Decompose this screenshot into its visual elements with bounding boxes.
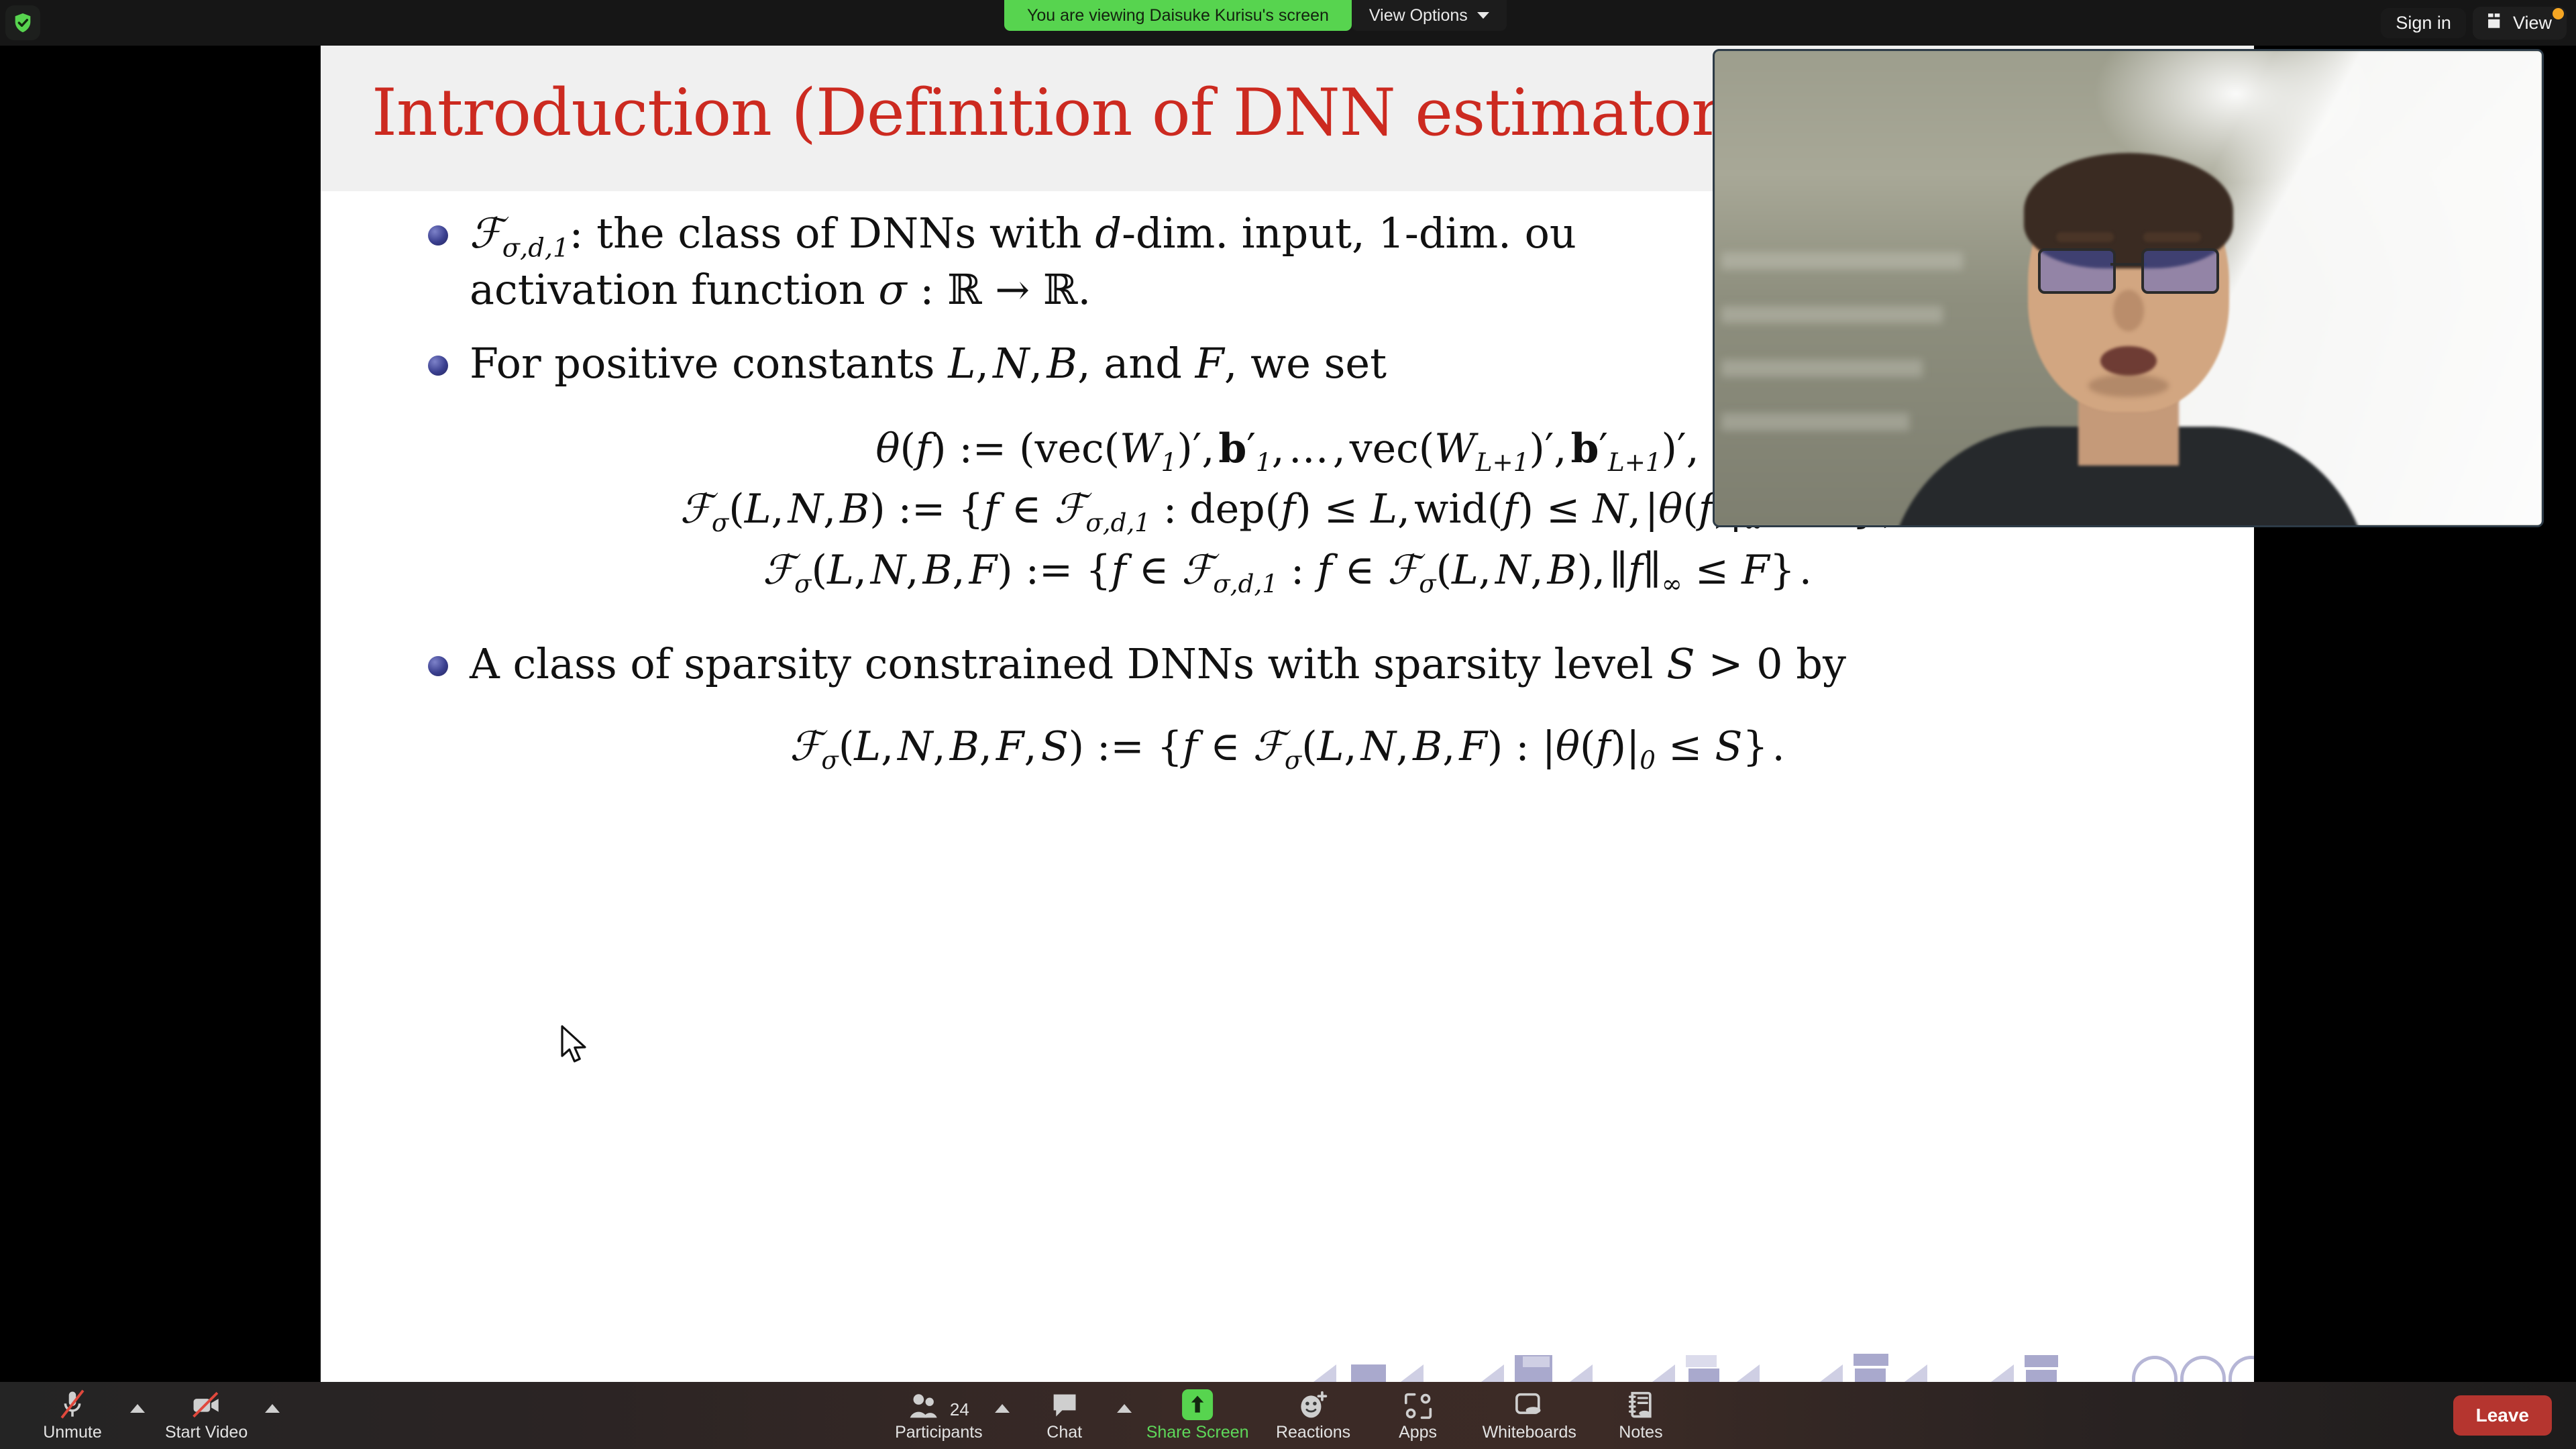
- presenter-eyebrow-right: [2143, 232, 2201, 242]
- bullet-sparsity-class: A class of sparsity constrained DNNs wit…: [428, 639, 2173, 690]
- notes-icon: [1627, 1389, 1655, 1420]
- bullet-sparsity-class-text: A class of sparsity constrained DNNs wit…: [470, 639, 1846, 690]
- apps-bracket-icon: [1403, 1389, 1433, 1420]
- reactions-button[interactable]: Reactions: [1261, 1385, 1366, 1446]
- share-screen-label: Share Screen: [1146, 1423, 1249, 1442]
- view-button[interactable]: View: [2473, 7, 2567, 40]
- chevron-down-icon: [1477, 12, 1489, 19]
- start-video-label: Start Video: [165, 1423, 248, 1442]
- window-top-right-controls: Sign in View: [2381, 4, 2567, 42]
- microphone-muted-icon: [58, 1389, 87, 1420]
- zoom-meeting-window: Sign in View You are viewing Daisuke Kur…: [0, 0, 2576, 1449]
- view-options-label: View Options: [1369, 6, 1468, 25]
- share-screen-button[interactable]: Share Screen: [1134, 1385, 1261, 1446]
- chevron-up-icon: [265, 1404, 280, 1413]
- participants-button[interactable]: 24 Participants: [883, 1385, 995, 1446]
- whiteboards-label: Whiteboards: [1483, 1423, 1576, 1442]
- participants-label: Participants: [895, 1423, 983, 1442]
- meeting-toolbar: Unmute Start Video: [0, 1382, 2576, 1449]
- sign-in-label: Sign in: [2396, 14, 2451, 32]
- presenter-glasses: [2038, 248, 2219, 291]
- video-options-caret[interactable]: [265, 1375, 282, 1449]
- smiley-plus-icon: [1297, 1389, 1330, 1420]
- start-video-button[interactable]: Start Video: [153, 1385, 260, 1446]
- mouse-cursor: [561, 1025, 590, 1067]
- shared-screen-stage: Introduction (Definition of DNN estimato…: [0, 0, 2576, 1382]
- chat-button[interactable]: Chat: [1012, 1385, 1117, 1446]
- notes-label: Notes: [1619, 1423, 1662, 1442]
- bullet-dot-icon: [428, 356, 448, 376]
- sign-in-button[interactable]: Sign in: [2381, 8, 2466, 38]
- presenter-chin: [2088, 374, 2169, 397]
- presenter-video-tile[interactable]: [1713, 49, 2544, 527]
- toolbar-center-group: 24 Participants Chat: [883, 1382, 1693, 1449]
- bullet-dot-icon: [428, 656, 448, 676]
- eq-F-LNBFS: ℱσ(L, N, B, F, S) := {f ∈ ℱσ(L, N, B, F)…: [321, 718, 2254, 779]
- presenter-eyebrow-left: [2056, 232, 2114, 242]
- screen-share-banner: You are viewing Daisuke Kurisu's screen …: [1004, 0, 1507, 31]
- slide-footer-decoration: [321, 1335, 2254, 1382]
- layout-grid-icon: [2487, 13, 2506, 34]
- whiteboard-icon: [1514, 1389, 1545, 1420]
- chat-options-caret[interactable]: [1117, 1375, 1134, 1449]
- bullet-positive-constants-text: For positive constants L, N, B, and F, w…: [470, 338, 1387, 389]
- leave-button[interactable]: Leave: [2453, 1395, 2552, 1436]
- equation-block-sparsity: ℱσ(L, N, B, F, S) := {f ∈ ℱσ(L, N, B, F)…: [321, 718, 2254, 779]
- participants-count: 24: [950, 1399, 969, 1420]
- view-notification-badge: [2553, 8, 2564, 19]
- unmute-label: Unmute: [43, 1423, 102, 1442]
- bullet-function-class-text: ℱσ,d,1: the class of DNNs with d-dim. in…: [470, 208, 1576, 315]
- camera-muted-icon: [189, 1389, 224, 1420]
- share-arrow-up-icon: [1182, 1389, 1213, 1420]
- viewing-screen-text: You are viewing Daisuke Kurisu's screen: [1004, 0, 1352, 31]
- apps-button[interactable]: Apps: [1366, 1385, 1470, 1446]
- chevron-up-icon: [995, 1404, 1010, 1413]
- presenter-mouth: [2100, 346, 2157, 376]
- eq-F-LNBF: ℱσ(L, N, B, F) := {f ∈ ℱσ,d,1 : f ∈ ℱσ(L…: [321, 541, 2254, 602]
- audio-options-caret[interactable]: [130, 1375, 148, 1449]
- presenter-nose: [2113, 290, 2144, 331]
- chevron-up-icon: [130, 1404, 145, 1413]
- chat-label: Chat: [1046, 1423, 1082, 1442]
- unmute-button[interactable]: Unmute: [20, 1385, 125, 1446]
- toolbar-right-group: Leave: [2453, 1382, 2552, 1449]
- participants-options-caret[interactable]: [995, 1375, 1012, 1449]
- page-title: Introduction (Definition of DNN estimato…: [372, 75, 1746, 150]
- whiteboards-button[interactable]: Whiteboards: [1470, 1385, 1589, 1446]
- view-options-button[interactable]: View Options: [1352, 0, 1507, 31]
- apps-label: Apps: [1399, 1423, 1437, 1442]
- chevron-up-icon: [1117, 1404, 1132, 1413]
- bullet-dot-icon: [428, 225, 448, 246]
- people-icon: 24: [908, 1389, 969, 1420]
- view-label: View: [2513, 14, 2552, 32]
- chat-bubble-icon: [1050, 1389, 1079, 1420]
- reactions-label: Reactions: [1276, 1423, 1350, 1442]
- notes-button[interactable]: Notes: [1589, 1385, 1693, 1446]
- toolbar-left-group: Unmute Start Video: [20, 1382, 282, 1449]
- shield-check-icon[interactable]: [5, 5, 40, 40]
